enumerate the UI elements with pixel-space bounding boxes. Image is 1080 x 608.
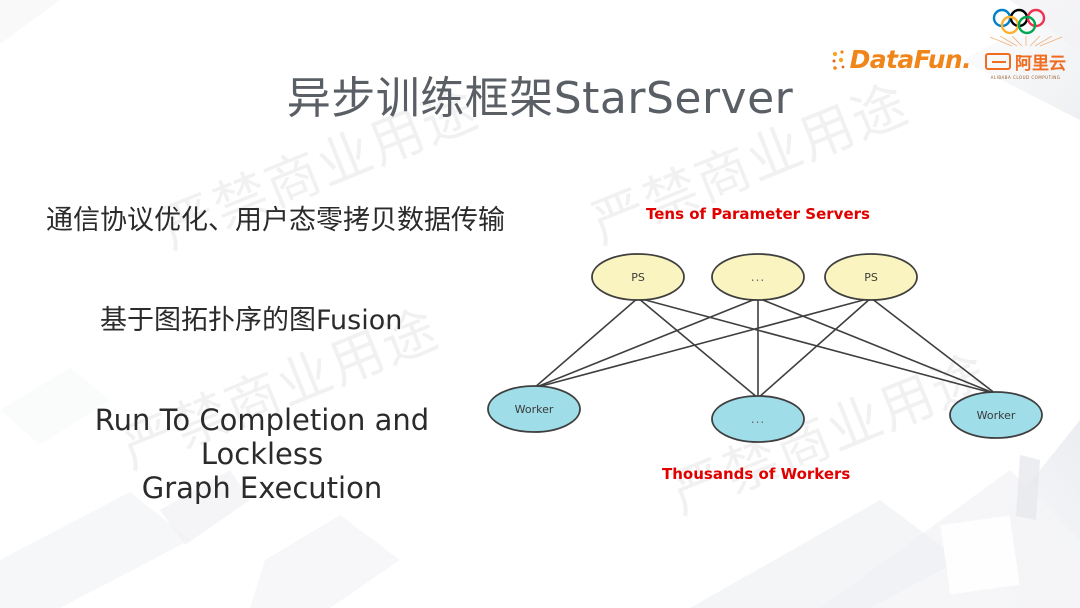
bullet-text-1: 通信协议优化、用户态零拷贝数据传输 xyxy=(46,205,505,237)
bullet-text-2: 基于图拓扑序的图Fusion xyxy=(100,305,402,337)
worker-node-label: ... xyxy=(751,412,765,426)
worker-node-label: Worker xyxy=(977,409,1016,422)
graph-edge xyxy=(534,298,758,388)
graph-edge xyxy=(871,298,996,394)
architecture-diagram: Tens of Parameter Servers Thousands of W… xyxy=(470,190,1080,500)
ps-node[interactable]: ... xyxy=(712,254,804,300)
graph-edge xyxy=(638,298,758,398)
ps-node-label: PS xyxy=(864,271,878,284)
graph-edges xyxy=(534,298,996,398)
olympic-rings-icon xyxy=(989,8,1063,36)
rays-icon xyxy=(986,36,1066,47)
worker-node[interactable]: ... xyxy=(712,396,804,442)
bullet-text-3: Run To Completion and Lockless Graph Exe… xyxy=(36,403,488,506)
ps-node-label: PS xyxy=(631,271,645,284)
worker-node[interactable]: Worker xyxy=(488,386,580,432)
worker-node[interactable]: Worker xyxy=(950,392,1042,438)
graph-edge xyxy=(758,298,996,394)
worker-node-label: Worker xyxy=(515,403,554,416)
bipartite-graph-svg: PS...PSWorker...Worker xyxy=(470,190,1080,500)
slide-canvas: 严禁商业用途 严禁商业用途 严禁商业用途 严禁商业用途 DataFun. xyxy=(0,0,1080,608)
ps-node[interactable]: PS xyxy=(592,254,684,300)
page-title: 异步训练框架StarServer xyxy=(0,62,1080,126)
ps-node-label: ... xyxy=(751,270,765,284)
ps-node[interactable]: PS xyxy=(825,254,917,300)
